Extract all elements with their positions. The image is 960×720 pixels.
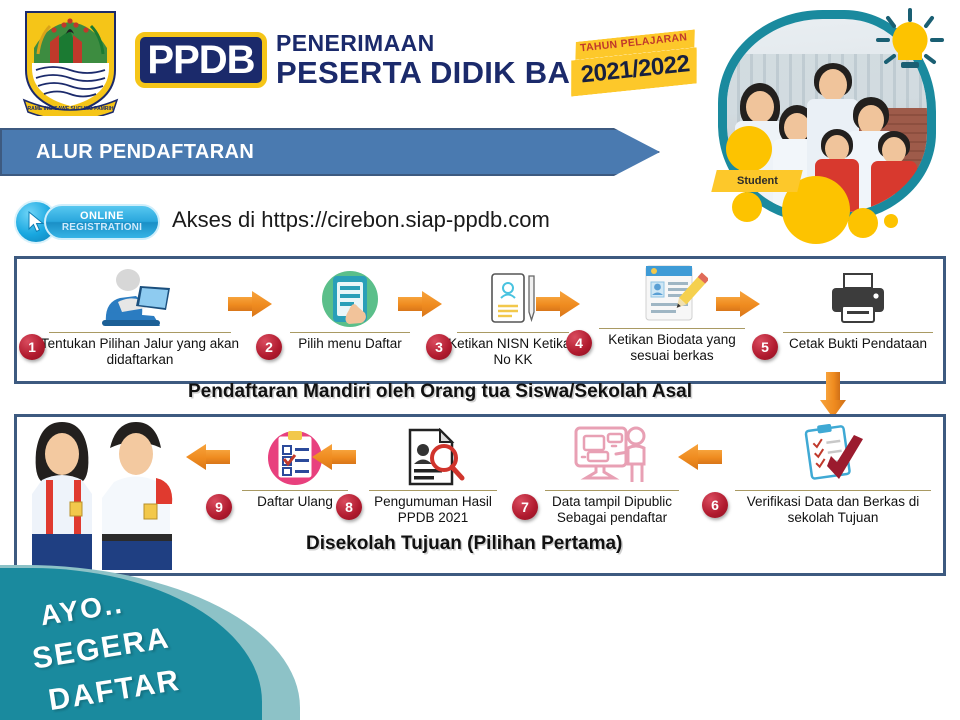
- decor-dot: [732, 192, 762, 222]
- banner-title: ALUR PENDAFTARAN: [36, 141, 254, 164]
- flow-step-6-badge: 6: [702, 492, 728, 518]
- step-rule: [290, 332, 410, 333]
- flow-arrow-right: [536, 291, 580, 317]
- flow-step-3-label: Ketikan NISN Ketikan No KK: [448, 336, 578, 368]
- decor-dot: [726, 126, 772, 172]
- flow-step-6[interactable]: Verifikasi Data dan Berkas di sekolah Tu…: [730, 424, 936, 526]
- printer-icon: [778, 266, 938, 328]
- online-registration-pill[interactable]: ONLINE REGISTRATIONI: [44, 204, 160, 240]
- ppdb-logo-text: PPDB: [147, 40, 254, 80]
- decor-dot: [884, 214, 898, 228]
- flow-arrow-left: [678, 444, 722, 470]
- students-photo-blob: Student: [708, 2, 952, 234]
- flow-step-4-label: Ketikan Biodata yang sesuai berkas: [590, 332, 754, 364]
- lightbulb-icon: [870, 8, 948, 86]
- flow-step-1-badge: 1: [19, 334, 45, 360]
- flow-step-4-badge: 4: [566, 330, 592, 356]
- flow-step-3[interactable]: Ketikan NISN Ketikan No KK: [448, 266, 578, 368]
- flow-arrow-left: [186, 444, 230, 470]
- flow-bottom-caption: Disekolah Tujuan (Pilihan Pertama): [306, 533, 622, 555]
- flow-step-8[interactable]: Pengumuman Hasil PPDB 2021: [362, 424, 504, 526]
- alur-pendaftaran-banner: ALUR PENDAFTARAN: [0, 128, 660, 176]
- kid-figure: [869, 131, 919, 213]
- step-rule: [242, 490, 348, 491]
- header-title-line2: PESERTA DIDIK BARU: [276, 55, 616, 91]
- flow-top-caption: Pendaftaran Mandiri oleh Orang tua Siswa…: [188, 381, 692, 403]
- flow-arrow-right: [716, 291, 760, 317]
- page-header: RAME ING GAWE SUCI ING PAMRIH PPDB PENER…: [0, 0, 960, 125]
- document-search-icon: [362, 424, 504, 486]
- presentation-screen-icon: [538, 424, 686, 486]
- person-laptop-icon: [40, 266, 240, 328]
- step-rule: [545, 490, 679, 491]
- flow-step-1[interactable]: Tentukan Pilihan Jalur yang akan didafta…: [40, 266, 240, 368]
- flow-arrow-right: [228, 291, 272, 317]
- online-registration-line2: REGISTRATIONI: [62, 222, 142, 233]
- step-rule: [457, 332, 569, 333]
- flow-step-7-label: Data tampil Dipublic Sebagai pendaftar: [538, 494, 686, 526]
- footer-wave: AYO.. SEGERA DAFTAR: [0, 560, 320, 720]
- flow-step-6-label: Verifikasi Data dan Berkas di sekolah Tu…: [730, 494, 936, 526]
- step-rule: [599, 328, 745, 329]
- step-rule: [369, 490, 497, 491]
- flow-step-5[interactable]: Cetak Bukti Pendataan: [778, 266, 938, 352]
- checklist-check-icon: [730, 424, 936, 486]
- online-registration-line1: ONLINE: [80, 211, 124, 222]
- flow-step-8-badge: 8: [336, 494, 362, 520]
- academic-year-badge: TAHUN PELAJARAN 2021/2022: [566, 29, 701, 96]
- header-title-line1: PENERIMAAN: [276, 30, 435, 57]
- flow-step-2-label: Pilih menu Daftar: [280, 336, 420, 352]
- step-rule: [783, 332, 933, 333]
- ppdb-logo: PPDB: [135, 32, 267, 88]
- step-rule: [49, 332, 231, 333]
- flow-step-2-badge: 2: [256, 334, 282, 360]
- access-url-text: Akses di https://cirebon.siap-ppdb.com: [172, 207, 550, 233]
- flow-step-7-badge: 7: [512, 494, 538, 520]
- flow-step-9-badge: 9: [206, 494, 232, 520]
- student-tag-label: Student: [737, 175, 778, 187]
- flow-step-1-label: Tentukan Pilihan Jalur yang akan didafta…: [40, 336, 240, 368]
- cirebon-crest-logo: RAME ING GAWE SUCI ING PAMRIH: [18, 8, 123, 116]
- flow-step-7[interactable]: Data tampil Dipublic Sebagai pendaftar: [538, 424, 686, 526]
- flow-step-3-badge: 3: [426, 334, 452, 360]
- crest-motto: RAME ING GAWE SUCI ING PAMRIH: [27, 106, 113, 112]
- student-tag-badge: Student: [711, 170, 802, 192]
- flow-arrow-left: [312, 444, 356, 470]
- flow-step-8-label: Pengumuman Hasil PPDB 2021: [362, 494, 504, 526]
- flow-arrow-down: [820, 372, 846, 418]
- step-rule: [735, 490, 931, 491]
- flow-step-5-badge: 5: [752, 334, 778, 360]
- decor-dot: [848, 208, 878, 238]
- student-pair-photo: [18, 418, 193, 570]
- online-registration-button[interactable]: ONLINE REGISTRATIONI: [14, 198, 162, 245]
- flow-arrow-right: [398, 291, 442, 317]
- flow-step-5-label: Cetak Bukti Pendataan: [778, 336, 938, 352]
